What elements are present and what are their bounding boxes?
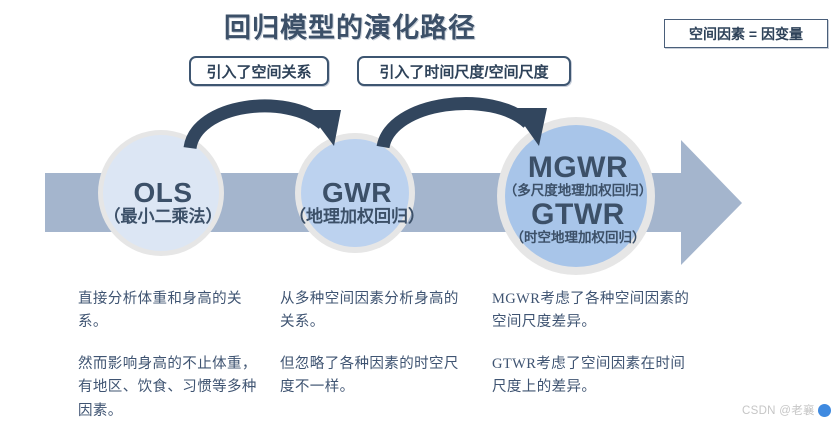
desc-3-para-2: GTWR考虑了空间因素在时间尺度上的差异。 bbox=[492, 353, 698, 400]
node-mgwr-abbr: MGWR bbox=[480, 152, 676, 184]
callout-2-label: 引入了时间尺度/空间尺度 bbox=[379, 61, 548, 82]
node-gtwr-abbr: GTWR bbox=[480, 199, 676, 231]
desc-2-para-1: 从多种空间因素分析身高的关系。 bbox=[280, 288, 460, 335]
node-gwr-abbr: GWR bbox=[282, 178, 432, 208]
callout-time-space-scale: 引入了时间尺度/空间尺度 bbox=[357, 56, 571, 86]
description-column-gwr: 从多种空间因素分析身高的关系。 但忽略了各种因素的时空尺度不一样。 bbox=[280, 288, 460, 400]
curved-arrow-2 bbox=[383, 103, 528, 147]
page-title: 回归模型的演化路径 bbox=[0, 6, 700, 45]
desc-2-para-2: 但忽略了各种因素的时空尺度不一样。 bbox=[280, 353, 460, 400]
desc-3-para-1: MGWR考虑了各种空间因素的空间尺度差异。 bbox=[492, 288, 698, 335]
node-ols-cn: （最小二乘法） bbox=[88, 208, 238, 226]
node-gtwr-cn: （时空地理加权回归） bbox=[480, 231, 676, 246]
curved-arrow-1 bbox=[190, 106, 323, 148]
callout-spatial-relation: 引入了空间关系 bbox=[189, 56, 329, 86]
node-label-mgwr-gtwr: MGWR （多尺度地理加权回归） GTWR （时空地理加权回归） bbox=[480, 152, 676, 246]
node-mgwr-cn: （多尺度地理加权回归） bbox=[480, 184, 676, 199]
note-box: 空间因素 = 因变量 bbox=[664, 19, 828, 48]
slide-canvas: 回归模型的演化路径 空间因素 = 因变量 引入了空间关系 引入了时间尺度/空间尺… bbox=[0, 0, 840, 427]
desc-1-para-2: 然而影响身高的不止体重，有地区、饮食、习惯等多种因素。 bbox=[78, 353, 258, 423]
node-label-gwr: GWR （地理加权回归） bbox=[282, 178, 432, 227]
description-column-ols: 直接分析体重和身高的关系。 然而影响身高的不止体重，有地区、饮食、习惯等多种因素… bbox=[78, 288, 258, 423]
watermark: CSDN @老襄 bbox=[742, 402, 831, 418]
watermark-label: CSDN @老襄 bbox=[742, 402, 815, 418]
node-ols-abbr: OLS bbox=[88, 178, 238, 208]
callout-1-label: 引入了空间关系 bbox=[206, 61, 311, 82]
node-gwr-cn: （地理加权回归） bbox=[282, 208, 432, 226]
desc-1-para-1: 直接分析体重和身高的关系。 bbox=[78, 288, 258, 335]
watermark-badge-icon bbox=[818, 404, 831, 417]
curved-arrow-1-head bbox=[307, 110, 341, 146]
curved-arrow-2-head bbox=[512, 108, 547, 146]
description-column-mgwr-gtwr: MGWR考虑了各种空间因素的空间尺度差异。 GTWR考虑了空间因素在时间尺度上的… bbox=[492, 288, 698, 400]
note-box-label: 空间因素 = 因变量 bbox=[689, 24, 803, 44]
node-label-ols: OLS （最小二乘法） bbox=[88, 178, 238, 227]
